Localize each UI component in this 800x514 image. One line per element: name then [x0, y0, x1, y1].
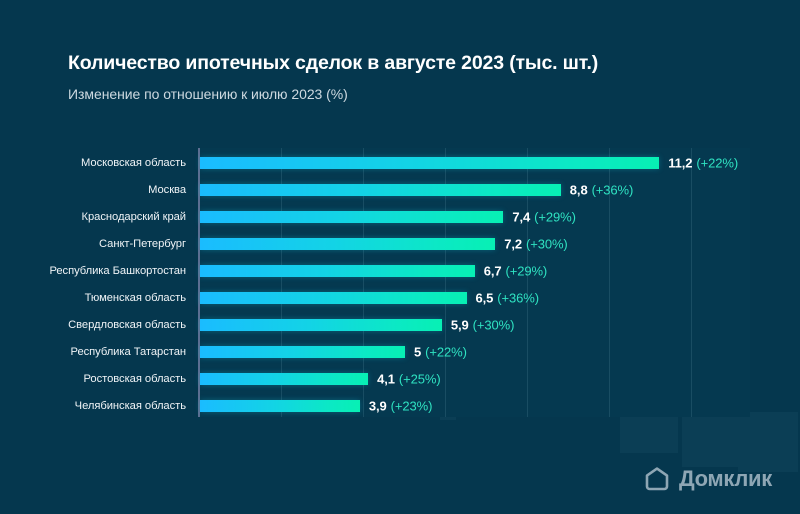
value-bar — [200, 346, 405, 358]
category-label: Тюменская область — [85, 292, 186, 304]
chart-row: Московская область11,2(+22%) — [0, 149, 800, 176]
value-number: 11,2 — [668, 155, 692, 170]
value-label-group: 7,2(+30%) — [504, 236, 567, 251]
value-label-group: 5(+22%) — [414, 344, 467, 359]
chart-row: Ростовская область4,1(+25%) — [0, 365, 800, 392]
value-number: 6,5 — [476, 290, 494, 305]
value-bar — [200, 400, 360, 412]
change-percent-label: (+22%) — [425, 344, 467, 359]
category-label: Свердловская область — [68, 319, 186, 331]
value-label-group: 6,5(+36%) — [476, 290, 539, 305]
value-number: 5,9 — [451, 317, 469, 332]
chart-row: Республика Башкортостан6,7(+29%) — [0, 257, 800, 284]
chart-header: Количество ипотечных сделок в августе 20… — [68, 52, 598, 102]
value-bar — [200, 238, 495, 250]
category-label: Московская область — [81, 157, 186, 169]
change-percent-label: (+29%) — [534, 209, 576, 224]
chart-row: Челябинская область3,9(+23%) — [0, 392, 800, 419]
value-bar — [200, 373, 368, 385]
change-percent-label: (+30%) — [473, 317, 515, 332]
chart-row: Свердловская область5,9(+30%) — [0, 311, 800, 338]
value-label-group: 5,9(+30%) — [451, 317, 514, 332]
value-number: 5 — [414, 344, 421, 359]
brand-logo: Домклик — [644, 466, 772, 492]
house-pentagon-icon — [644, 466, 670, 492]
chart-row: Краснодарский край7,4(+29%) — [0, 203, 800, 230]
value-label-group: 7,4(+29%) — [512, 209, 575, 224]
value-label-group: 4,1(+25%) — [377, 371, 440, 386]
change-percent-label: (+25%) — [399, 371, 441, 386]
value-number: 4,1 — [377, 371, 395, 386]
page-subtitle: Изменение по отношению к июлю 2023 (%) — [68, 86, 598, 102]
bar-rows: Московская область11,2(+22%)Москва8,8(+3… — [0, 148, 800, 417]
value-label-group: 11,2(+22%) — [668, 155, 738, 170]
category-label: Ростовская область — [84, 373, 186, 385]
category-label: Челябинская область — [75, 400, 186, 412]
change-percent-label: (+36%) — [497, 290, 539, 305]
chart-row: Тюменская область6,5(+36%) — [0, 284, 800, 311]
infographic-canvas: Количество ипотечных сделок в августе 20… — [0, 0, 800, 514]
brand-logo-text: Домклик — [679, 466, 772, 492]
value-number: 7,2 — [504, 236, 522, 251]
value-number: 8,8 — [570, 182, 588, 197]
category-label: Республика Башкортостан — [49, 265, 186, 277]
chart-row: Москва8,8(+36%) — [0, 176, 800, 203]
category-label: Санкт-Петербург — [99, 238, 186, 250]
value-number: 7,4 — [512, 209, 530, 224]
value-bar — [200, 157, 659, 169]
value-bar — [200, 319, 442, 331]
value-bar — [200, 211, 503, 223]
value-number: 6,7 — [484, 263, 502, 278]
change-percent-label: (+30%) — [526, 236, 568, 251]
value-number: 3,9 — [369, 398, 387, 413]
value-bar — [200, 184, 561, 196]
value-bar — [200, 265, 475, 277]
value-label-group: 6,7(+29%) — [484, 263, 547, 278]
value-bar — [200, 292, 467, 304]
change-percent-label: (+23%) — [391, 398, 433, 413]
value-label-group: 3,9(+23%) — [369, 398, 432, 413]
change-percent-label: (+22%) — [696, 155, 738, 170]
chart-row: Республика Татарстан5(+22%) — [0, 338, 800, 365]
chart-row: Санкт-Петербург7,2(+30%) — [0, 230, 800, 257]
category-label: Краснодарский край — [82, 211, 186, 223]
category-label: Республика Татарстан — [71, 346, 186, 358]
value-label-group: 8,8(+36%) — [570, 182, 633, 197]
change-percent-label: (+29%) — [505, 263, 547, 278]
category-label: Москва — [148, 184, 186, 196]
page-title: Количество ипотечных сделок в августе 20… — [68, 52, 598, 75]
change-percent-label: (+36%) — [592, 182, 634, 197]
